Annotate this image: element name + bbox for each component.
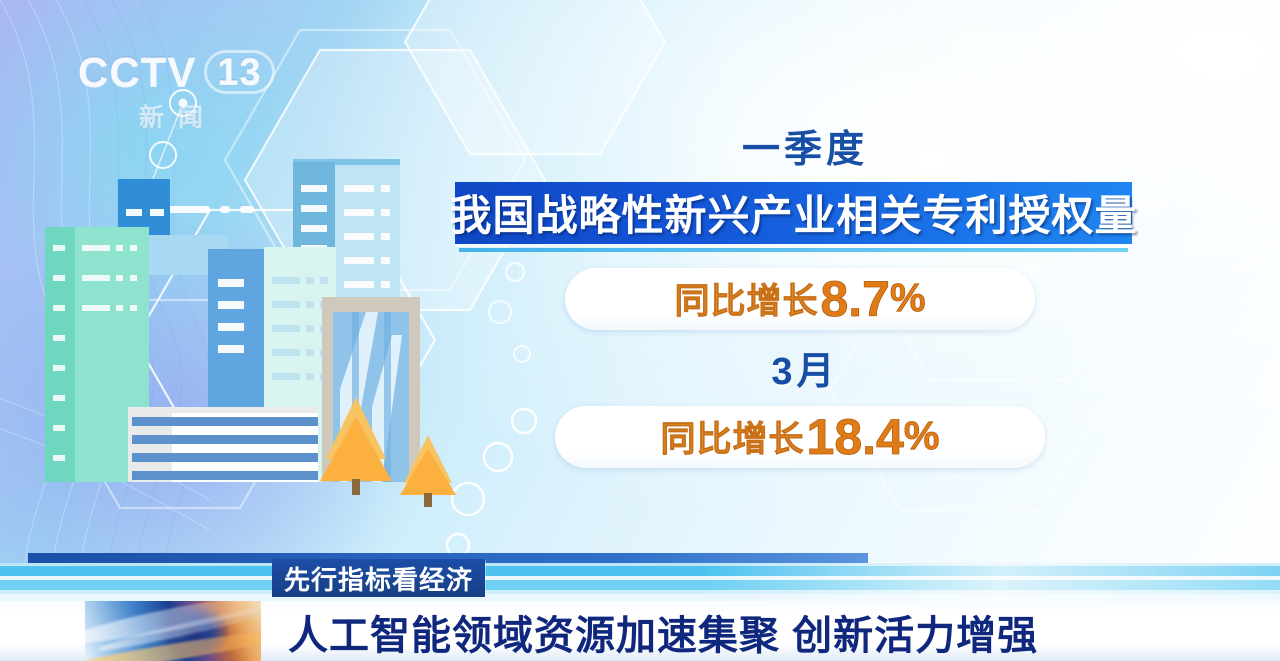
logo-subtitle: 新闻 [78,98,268,134]
banner-headline: 人工智能领域资源加速集聚 创新活力增强 [288,605,1268,659]
stat-pill-march: 同比增长 18.4 % [555,406,1045,468]
panel-kicker: 一季度 [455,130,1155,172]
logo-main-row: CCTV 13 [78,50,268,94]
stat2-label: 同比增长 [661,411,805,462]
panel-period-march: 3月 [455,352,1155,394]
stat2-unit: % [904,414,940,459]
banner-headline-text: 人工智能领域资源加速集聚 创新活力增强 [288,603,1038,661]
banner-cyan-stripes [0,563,1280,601]
news-globe-bug [85,601,261,661]
cctv13-logo: CCTV 13 新闻 [78,50,268,126]
statistics-panel: 一季度 我国战略性新兴产业相关专利授权量 同比增长 8.7 % 3月 同比增长 … [455,130,1155,468]
logo-channel-number: 13 [204,50,274,94]
city-skyline-illustration [0,149,500,569]
panel-title-bar: 我国战略性新兴产业相关专利授权量 [455,182,1132,244]
stat1-unit: % [890,276,926,321]
stat1-label: 同比增长 [674,273,818,324]
stat-pill-quarter: 同比增长 8.7 % [565,268,1035,330]
logo-channel-name: CCTV [78,51,196,93]
panel-title: 我国战略性新兴产业相关专利授权量 [450,182,1138,243]
banner-topic-tag: 先行指标看经济 [272,559,485,597]
banner-tag-label: 先行指标看经济 [284,560,473,597]
broadcast-frame: CCTV 13 新闻 [0,0,1280,661]
lower-third-banner: 先行指标看经济 人工智能领域资源加速集聚 创新活力增强 [0,553,1280,661]
stat1-value: 8.7 [820,270,890,328]
stat2-value: 18.4 [807,408,904,466]
